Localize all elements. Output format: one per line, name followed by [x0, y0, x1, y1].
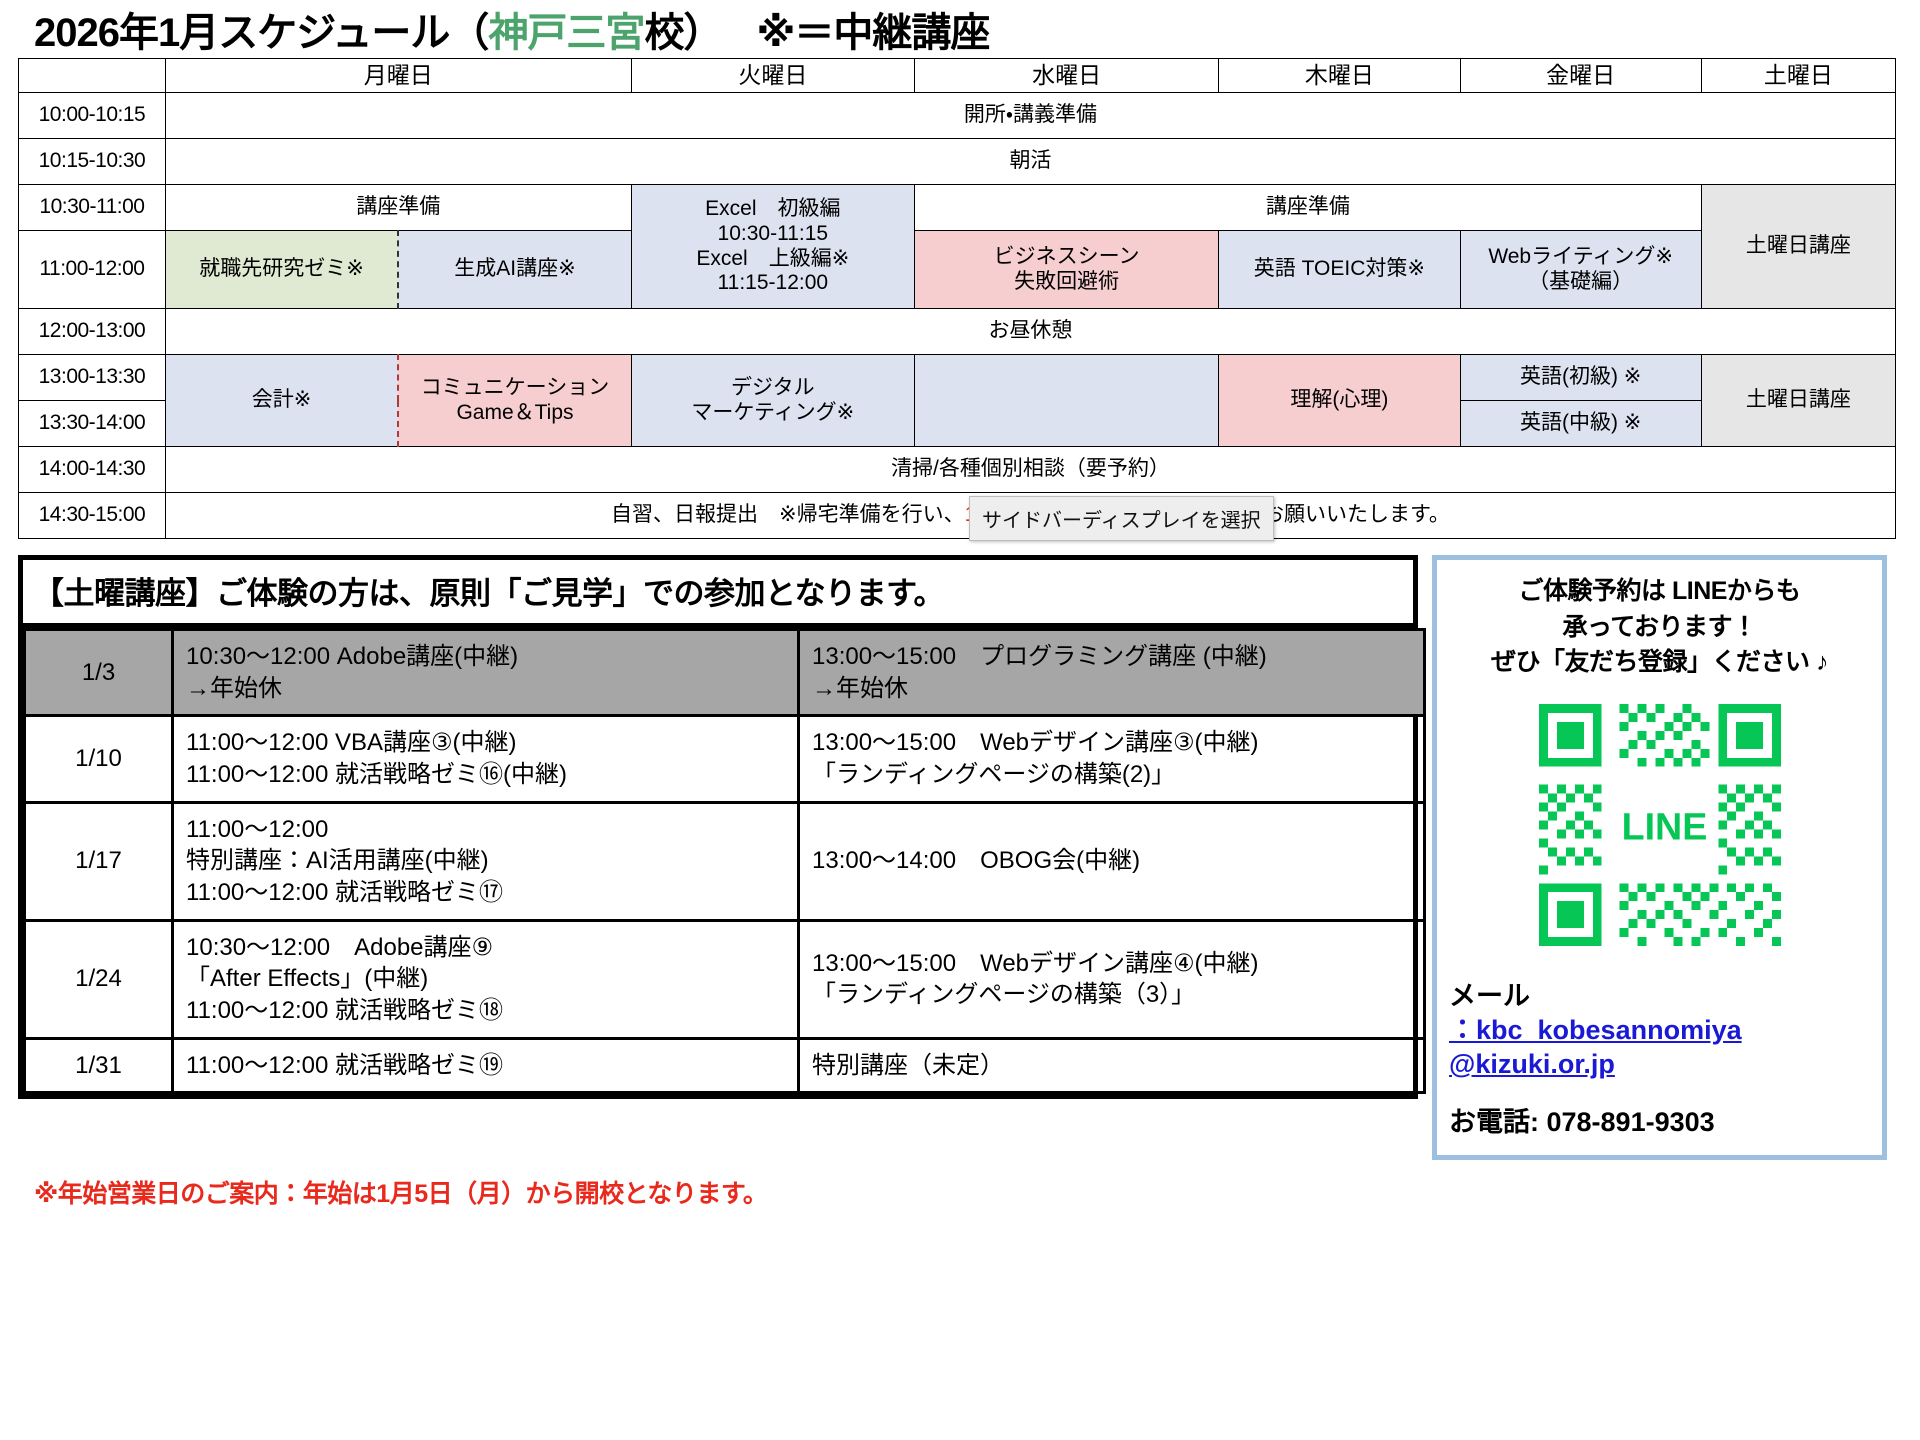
saturday-date: 1/10 — [25, 716, 173, 802]
excel-advanced-label: Excel 上級編※ — [635, 247, 911, 272]
cell-wed-fri-prep: 講座準備 — [914, 185, 1701, 231]
saturday-afternoon: 13:00〜15:00 Webデザイン講座④(中継) 「ランディングページの構築… — [799, 920, 1425, 1038]
time-1430: 14:30-15:00 — [19, 493, 166, 539]
saturday-heading: 【土曜講座】ご体験の方は、原則「ご見学」での参加となります。 — [23, 560, 1413, 628]
weekly-schedule-table: 月曜日 火曜日 水曜日 木曜日 金曜日 土曜日 10:00-10:15 開所・講… — [18, 58, 1896, 539]
saturday-courses-box: 【土曜講座】ご体験の方は、原則「ご見学」での参加となります。 1/3 10:30… — [18, 555, 1418, 1099]
cell-cleaning-consult: 清掃/各種個別相談（要予約） — [165, 447, 1895, 493]
cell-thu-psychology: 理解(心理) — [1219, 355, 1460, 447]
saturday-afternoon: 13:00〜15:00 プログラミング講座 (中継) →年始休 — [799, 630, 1425, 716]
header-wednesday: 水曜日 — [914, 59, 1218, 93]
saturday-afternoon: 特別講座（未定） — [799, 1038, 1425, 1093]
telephone-number: お電話: 078-891-9303 — [1449, 1100, 1715, 1139]
table-row-1030: 10:30-11:00 講座準備 Excel 初級編 10:30-11:15 E… — [19, 185, 1896, 231]
saturday-date: 1/17 — [25, 802, 173, 920]
cell-mon-genai: 生成AI講座※ — [398, 231, 631, 309]
page-title: 2026年1月スケジュール（神戸三宮校） ※＝中継講座 — [18, 0, 1902, 58]
title-campus: 神戸三宮 — [488, 0, 644, 58]
saturday-morning: 11:00〜12:00 就活戦略ゼミ⑲ — [173, 1038, 799, 1093]
time-1030: 10:30-11:00 — [19, 185, 166, 231]
excel-advanced-time: 11:15-12:00 — [635, 271, 911, 296]
header-friday: 金曜日 — [1460, 59, 1701, 93]
cell-mon-accounting: 会計※ — [165, 355, 398, 447]
digital-marketing-line2: マーケティング※ — [635, 401, 911, 426]
sidebar-display-tooltip: サイドバーディスプレイを選択 — [969, 496, 1274, 541]
table-row-1015: 10:15-10:30 朝活 — [19, 139, 1896, 185]
table-header-row: 月曜日 火曜日 水曜日 木曜日 金曜日 土曜日 — [19, 59, 1896, 93]
webwriting-line2: （基礎編） — [1464, 270, 1698, 295]
communication-line1: コミュニケーション — [402, 376, 627, 401]
saturday-course-table: 1/3 10:30〜12:00 Adobe講座(中継) →年始休 13:00〜1… — [23, 628, 1426, 1094]
cell-mon-communication: コミュニケーション Game＆Tips — [398, 355, 631, 447]
cell-wed-business: ビジネスシーン 失敗回避術 — [914, 231, 1218, 309]
time-1000: 10:00-10:15 — [19, 93, 166, 139]
table-row: 1/3 10:30〜12:00 Adobe講座(中継) →年始休 13:00〜1… — [25, 630, 1425, 716]
saturday-afternoon: 13:00〜14:00 OBOG会(中継) — [799, 802, 1425, 920]
table-row-1400: 14:00-14:30 清掃/各種個別相談（要予約） — [19, 447, 1896, 493]
cell-sat-course-pm: 土曜日講座 — [1701, 355, 1895, 447]
saturday-morning: 10:30〜12:00 Adobe講座⑨ 「After Effects」(中継)… — [173, 920, 799, 1038]
cell-fri-webwriting: Webライティング※ （基礎編） — [1460, 231, 1701, 309]
business-line1: ビジネスシーン — [918, 245, 1215, 270]
table-row: 1/31 11:00〜12:00 就活戦略ゼミ⑲ 特別講座（未定） — [25, 1038, 1425, 1093]
saturday-date: 1/24 — [25, 920, 173, 1038]
saturday-table-body: 1/3 10:30〜12:00 Adobe講座(中継) →年始休 13:00〜1… — [25, 630, 1425, 1093]
cell-fri-english-beginner: 英語(初級) ※ — [1460, 355, 1701, 401]
table-row: 1/24 10:30〜12:00 Adobe講座⑨ 「After Effects… — [25, 920, 1425, 1038]
cell-open-prep: 開所・講義準備 — [165, 93, 1895, 139]
table-row-1200: 12:00-13:00 お昼休憩 — [19, 309, 1896, 355]
digital-marketing-line1: デジタル — [635, 376, 911, 401]
time-1300: 13:00-13:30 — [19, 355, 166, 401]
cell-tue-excel: Excel 初級編 10:30-11:15 Excel 上級編※ 11:15-1… — [631, 185, 914, 309]
communication-line2: Game＆Tips — [402, 401, 627, 426]
header-time — [19, 59, 166, 93]
title-legend-note: ※＝中継講座 — [756, 0, 989, 58]
time-1100: 11:00-12:00 — [19, 231, 166, 309]
mail-address-link[interactable]: ：kbc_kobesannomiya @kizuki.or.jp — [1449, 1013, 1742, 1082]
cell-sat-course-am: 土曜日講座 — [1701, 185, 1895, 309]
table-row-1100: 11:00-12:00 就職先研究ゼミ※ 生成AI講座※ ビジネスシーン 失敗回… — [19, 231, 1896, 309]
excel-beginner-label: Excel 初級編 — [635, 197, 911, 222]
saturday-morning: 10:30〜12:00 Adobe講座(中継) →年始休 — [173, 630, 799, 716]
mail-label: メール — [1449, 974, 1530, 1013]
saturday-afternoon: 13:00〜15:00 Webデザイン講座③(中継) 「ランディングページの構築… — [799, 716, 1425, 802]
table-row-1300: 13:00-13:30 会計※ コミュニケーション Game＆Tips デジタル… — [19, 355, 1896, 401]
title-suffix: 校） — [644, 0, 722, 58]
cell-mon-job-research: 就職先研究ゼミ※ — [165, 231, 398, 309]
saturday-date: 1/3 — [25, 630, 173, 716]
table-row-1430: 14:30-15:00 自習、日報提出 ※帰宅準備を行い、15：00に完全退出が… — [19, 493, 1896, 539]
time-1200: 12:00-13:00 — [19, 309, 166, 355]
table-row-1000: 10:00-10:15 開所・講義準備 — [19, 93, 1896, 139]
header-saturday: 土曜日 — [1701, 59, 1895, 93]
time-1015: 10:15-10:30 — [19, 139, 166, 185]
lower-section: 【土曜講座】ご体験の方は、原則「ご見学」での参加となります。 1/3 10:30… — [18, 555, 1902, 1160]
cell-fri-english-intermediate: 英語(中級) ※ — [1460, 401, 1701, 447]
qr-code-icon: LINE — [1530, 695, 1790, 955]
header-tuesday: 火曜日 — [631, 59, 914, 93]
saturday-morning: 11:00〜12:00 VBA講座③(中継) 11:00〜12:00 就活戦略ゼ… — [173, 716, 799, 802]
cell-lunch-break: お昼休憩 — [165, 309, 1895, 355]
schedule-page: 2026年1月スケジュール（神戸三宮校） ※＝中継講座 月曜日 火曜日 水曜日 … — [0, 0, 1920, 1440]
webwriting-line1: Webライティング※ — [1464, 245, 1698, 270]
time-1330: 13:30-14:00 — [19, 401, 166, 447]
table-row: 1/17 11:00〜12:00 特別講座：AI活用講座(中継) 11:00〜1… — [25, 802, 1425, 920]
cell-morning-activity: 朝活 — [165, 139, 1895, 185]
cell-tue-digital-marketing: デジタル マーケティング※ — [631, 355, 914, 447]
cell-mon-prep: 講座準備 — [165, 185, 631, 231]
saturday-morning: 11:00〜12:00 特別講座：AI活用講座(中継) 11:00〜12:00 … — [173, 802, 799, 920]
table-row: 1/10 11:00〜12:00 VBA講座③(中継) 11:00〜12:00 … — [25, 716, 1425, 802]
selfstudy-text-a: 自習、日報提出 ※帰宅準備を行い、 — [611, 503, 965, 526]
time-1400: 14:00-14:30 — [19, 447, 166, 493]
saturday-date: 1/31 — [25, 1038, 173, 1093]
header-thursday: 木曜日 — [1219, 59, 1460, 93]
excel-beginner-time: 10:30-11:15 — [635, 222, 911, 247]
qr-code[interactable]: LINE — [1530, 695, 1790, 960]
line-panel-heading: ご体験予約は LINEからも 承っております！ ぜひ「友だち登録」ください ♪ — [1491, 574, 1828, 681]
business-line2: 失敗回避術 — [918, 270, 1215, 295]
cell-thu-toeic: 英語 TOEIC対策※ — [1219, 231, 1460, 309]
header-monday: 月曜日 — [165, 59, 631, 93]
cell-wed-pm — [914, 355, 1218, 447]
line-reservation-panel: ご体験予約は LINEからも 承っております！ ぜひ「友だち登録」ください ♪ — [1432, 555, 1887, 1160]
svg-text:LINE: LINE — [1621, 805, 1707, 847]
title-prefix: 2026年1月スケジュール（ — [34, 0, 488, 58]
new-year-footnote: ※年始営業日のご案内：年始は1月5日（月）から開校となります。 — [18, 1174, 1902, 1210]
